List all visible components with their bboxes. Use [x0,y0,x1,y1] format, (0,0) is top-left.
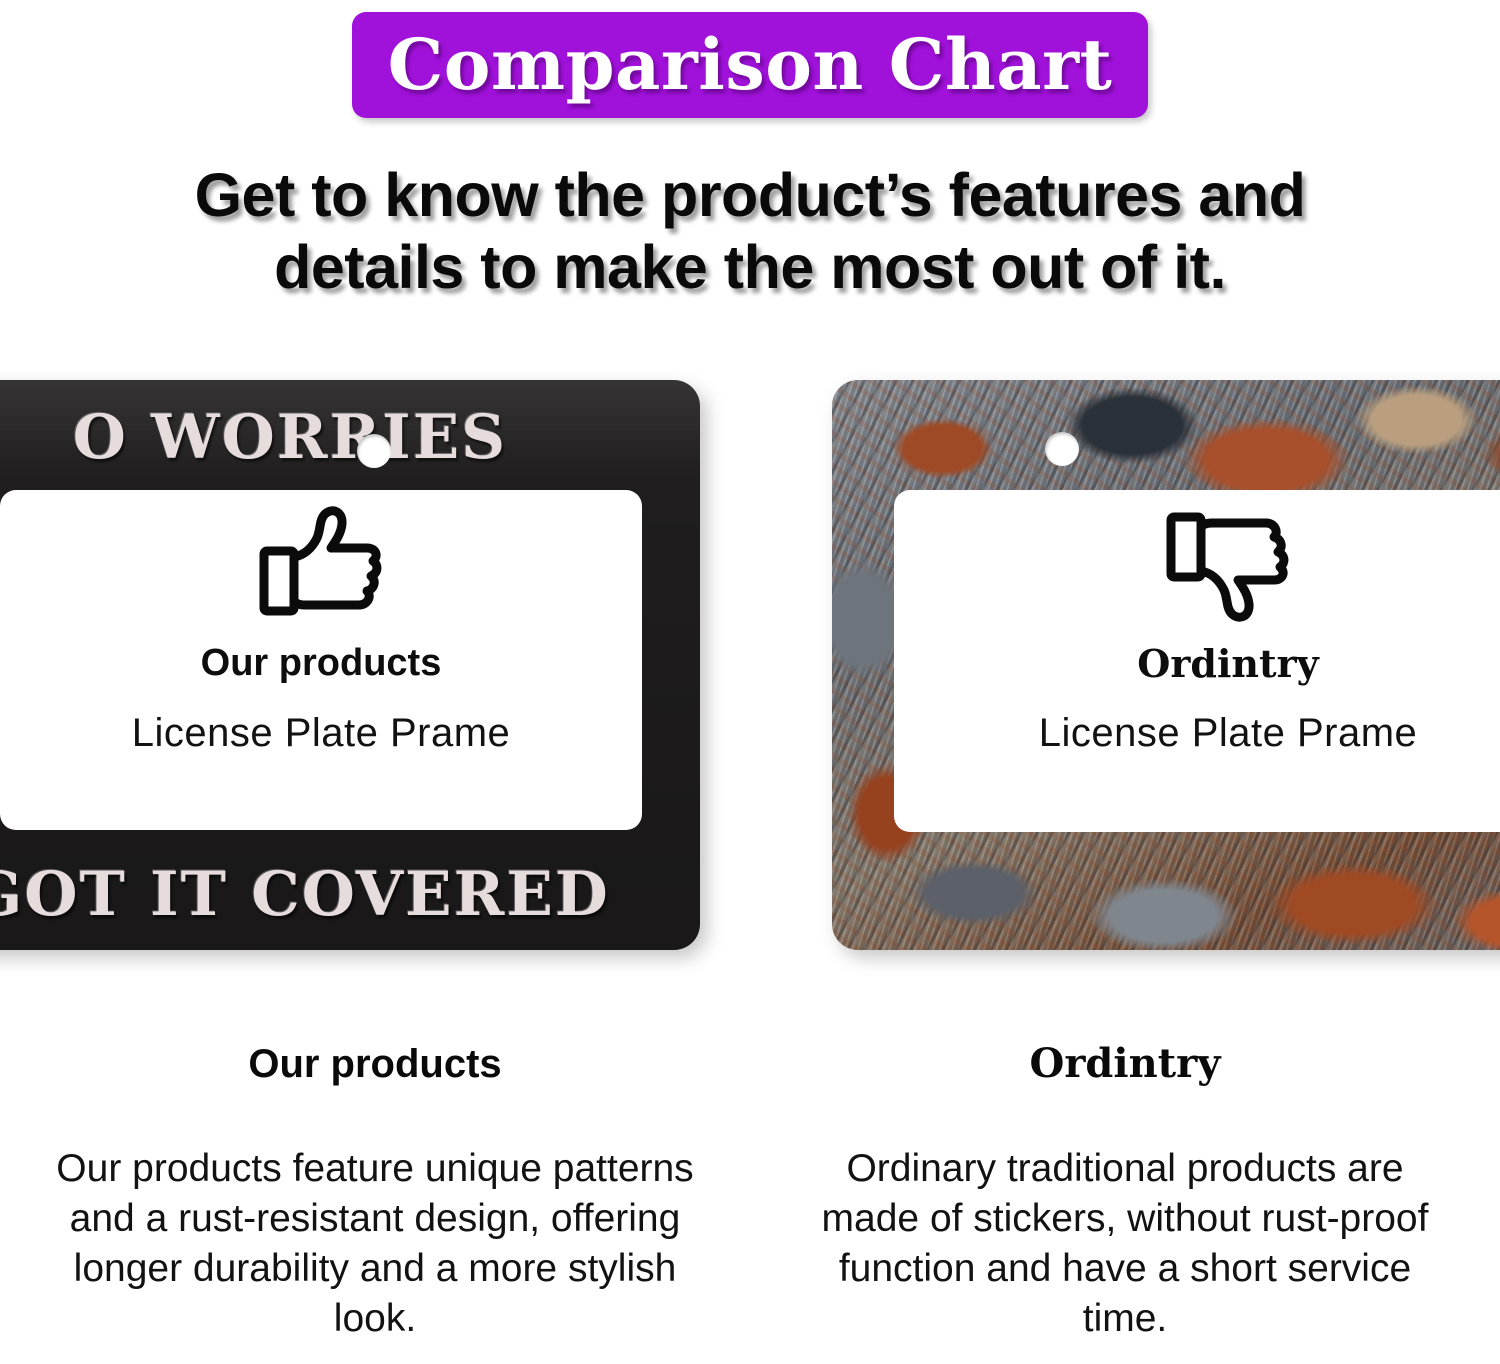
frame-top-lettering: O WORRIES [0,402,700,473]
page-subtitle: Get to know the product’s features and d… [0,160,1500,304]
ordinary-frame-window-content: Ordintry License Plate Prame [894,490,1500,832]
comparison-heading-theirs: Ordintry [798,1042,1452,1086]
thumbs-down-icon [1164,504,1292,629]
mounting-hole [357,434,391,468]
thumbs-up-icon [257,504,385,629]
our-frame-label: Our products [201,643,442,685]
comparison-body-ours: Our products feature unique patterns and… [48,1144,702,1344]
comparison-column-theirs: Ordintry Ordinary traditional products a… [750,1020,1500,1364]
comparison-description-row: Our products Our products feature unique… [0,1020,1500,1364]
our-frame-window: Our products License Plate Prame [0,490,642,830]
subtitle-line-2: details to make the most out of it. [0,232,1500,304]
our-license-plate-frame: O WORRIES GOT IT COVERED Our products Li… [0,380,700,950]
comparison-chart-banner: Comparison Chart [352,12,1148,118]
subtitle-line-1: Get to know the product’s features and [0,160,1500,232]
ordinary-frame-sublabel: License Plate Prame [1039,711,1418,756]
our-frame-window-content: Our products License Plate Prame [0,490,642,830]
ordinary-license-plate-frame: Ordintry License Plate Prame [832,380,1500,950]
comparison-column-ours: Our products Our products feature unique… [0,1020,750,1364]
ordinary-frame-window: Ordintry License Plate Prame [894,490,1500,832]
product-comparison-images: O WORRIES GOT IT COVERED Our products Li… [0,372,1500,962]
mounting-hole [1045,432,1079,466]
frame-bottom-lettering: GOT IT COVERED [0,859,700,930]
page-title: Comparison Chart [388,30,1113,100]
comparison-heading-ours: Our products [48,1042,702,1086]
comparison-body-theirs: Ordinary traditional products are made o… [798,1144,1452,1344]
our-frame-sublabel: License Plate Prame [132,711,511,756]
ordinary-frame-label: Ordintry [1137,643,1318,685]
